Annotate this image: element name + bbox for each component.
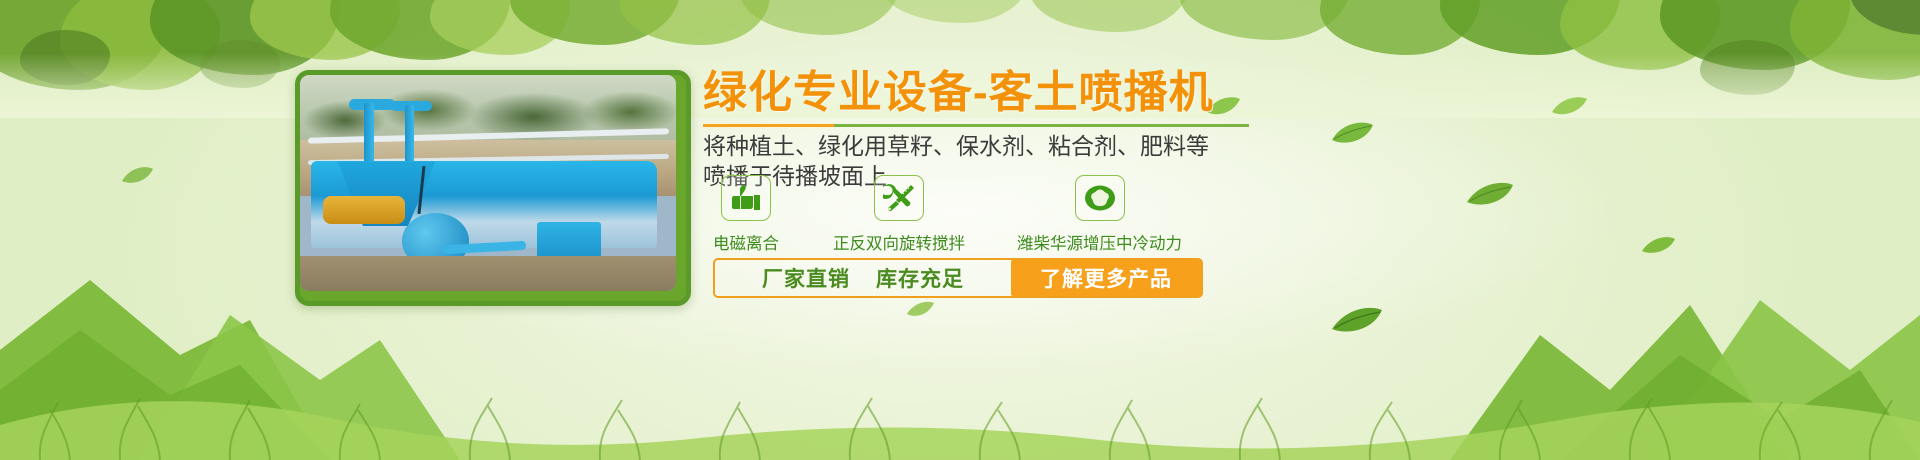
- floating-leaf-icon: [1330, 120, 1374, 146]
- feature-icon-box: [721, 175, 771, 221]
- subtitle-line-1: 将种植土、绿化用草籽、保水剂、粘合剂、肥料等: [703, 132, 1323, 161]
- feature-list: 电磁离合 正反双向旋转搅拌: [703, 175, 1323, 254]
- feature-icon-box: [1075, 175, 1125, 221]
- cta-bar: 厂家直销 库存充足 了解更多产品: [713, 258, 1203, 298]
- learn-more-button[interactable]: 了解更多产品: [1011, 260, 1201, 296]
- feature-icon-box: [874, 175, 924, 221]
- page-title: 绿化专业设备-客土喷播机: [703, 70, 1323, 116]
- floating-leaf-icon: [1465, 180, 1515, 208]
- feature-label: 电磁离合: [713, 230, 779, 254]
- feature-item-2: 正反双向旋转搅拌: [833, 175, 965, 254]
- feature-item-1: 电磁离合: [713, 175, 779, 254]
- wrench-screwdriver-icon: [883, 183, 915, 213]
- cta-tags: 厂家直销 库存充足: [715, 260, 1011, 296]
- title-divider: [703, 124, 1249, 127]
- gear-icon: [1084, 184, 1116, 212]
- floating-leaf-icon: [1640, 235, 1676, 255]
- headline-block: 绿化专业设备-客土喷播机 将种植土、绿化用草籽、保水剂、粘合剂、肥料等 喷播于待…: [703, 70, 1323, 191]
- cta-tag-1: 厂家直销: [762, 263, 850, 293]
- product-photo-frame: [295, 70, 691, 306]
- feature-label: 正反双向旋转搅拌: [833, 230, 965, 254]
- thumbs-up-icon: [731, 184, 761, 212]
- product-photo: [300, 75, 676, 291]
- cta-tag-2: 库存充足: [876, 263, 964, 293]
- feature-label: 潍柴华源增压中冷动力: [1017, 230, 1182, 254]
- floating-leaf-icon: [120, 165, 154, 185]
- grass-strip: [0, 340, 1920, 460]
- feature-item-3: 潍柴华源增压中冷动力: [1017, 175, 1182, 254]
- promo-banner: 绿化专业设备-客土喷播机 将种植土、绿化用草籽、保水剂、粘合剂、肥料等 喷播于待…: [0, 0, 1920, 460]
